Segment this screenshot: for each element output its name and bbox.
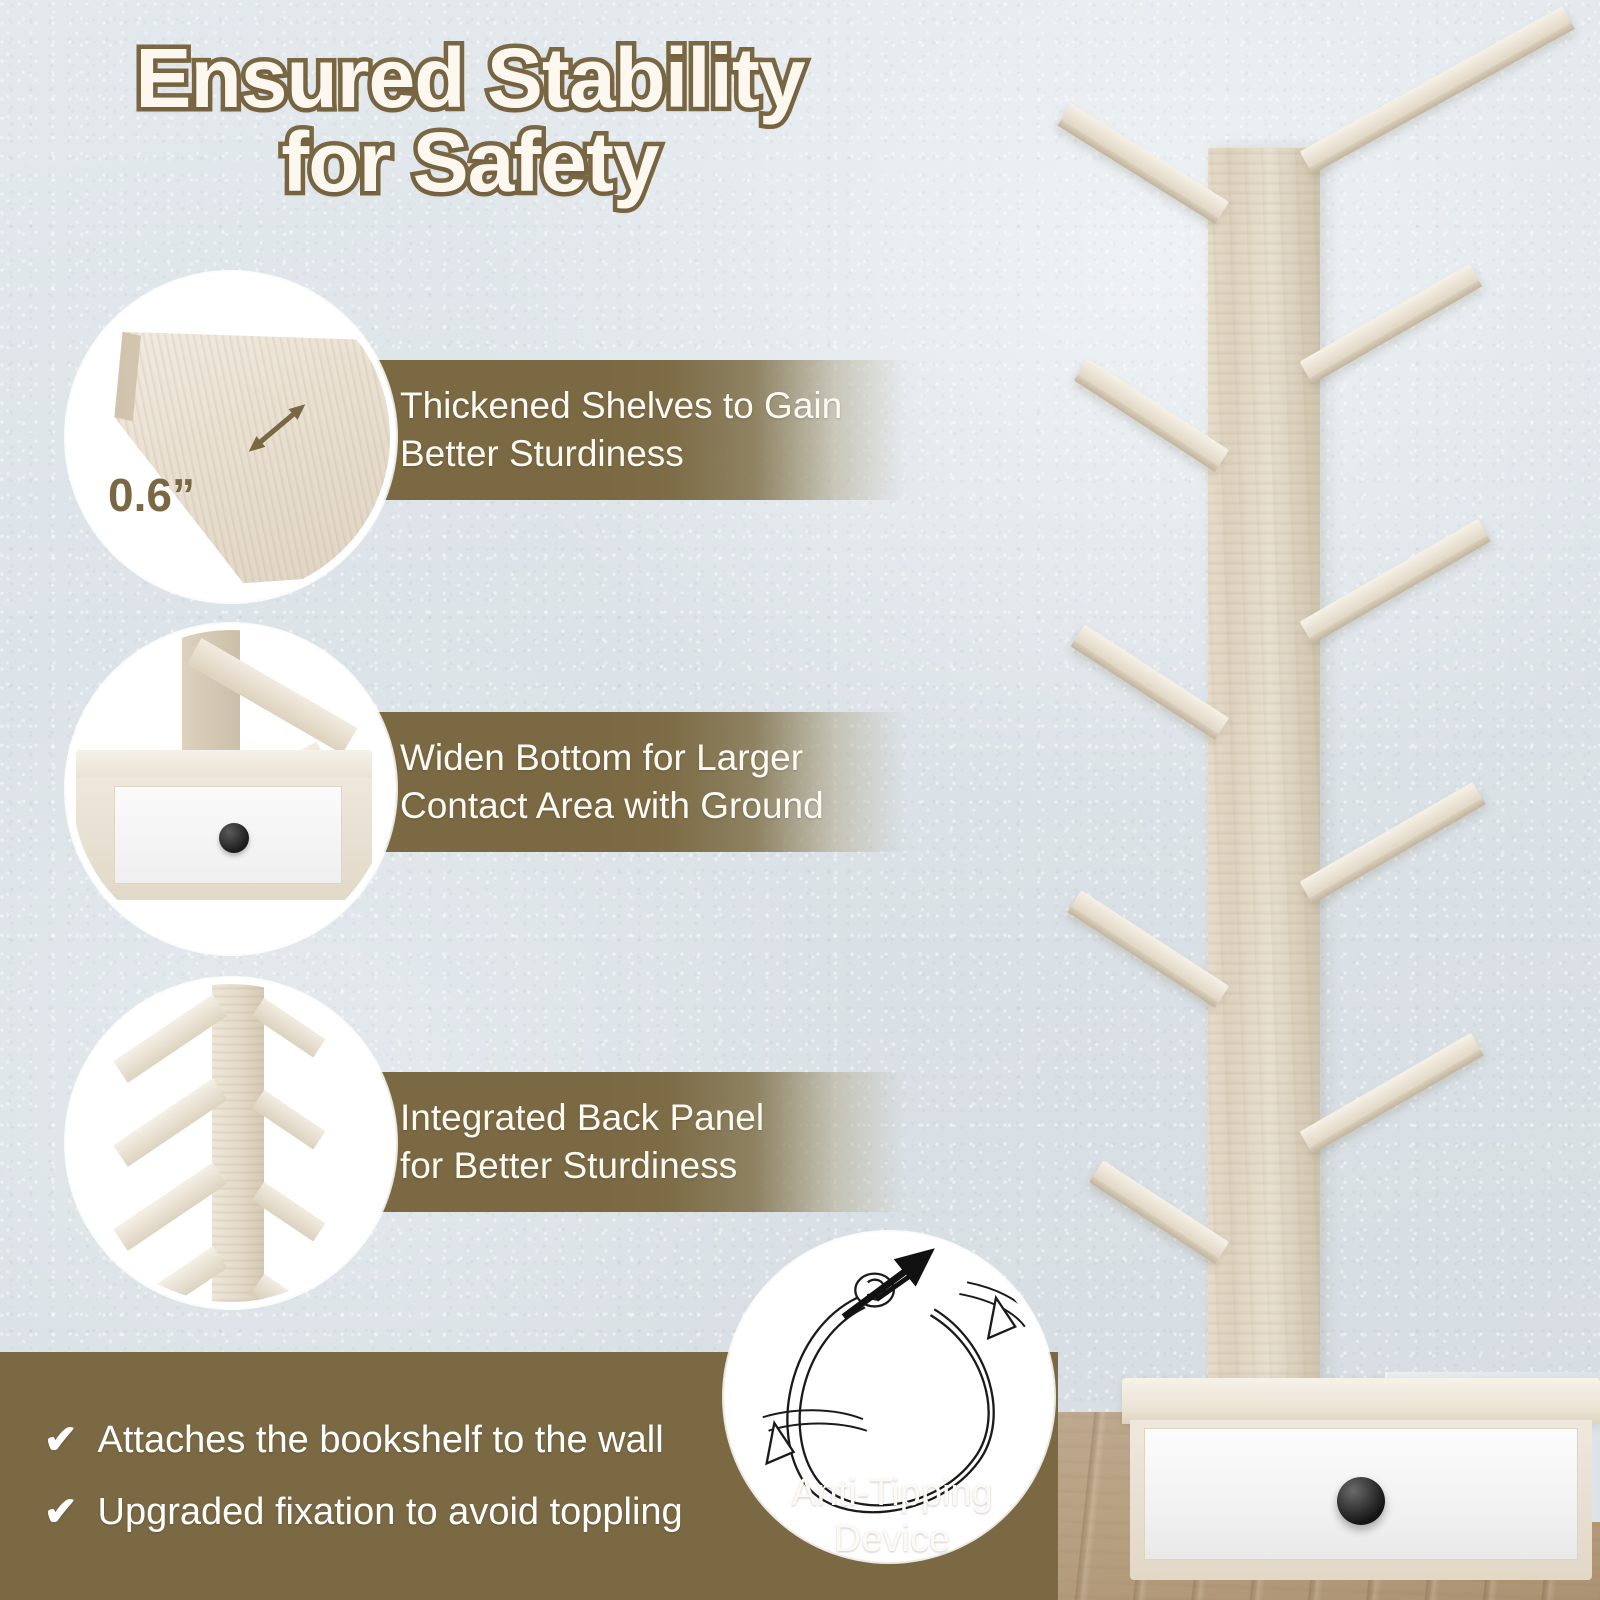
branch-shelf-right bbox=[1300, 519, 1491, 645]
back-panel-branch-left bbox=[113, 1078, 227, 1167]
back-panel-branch-left bbox=[113, 1162, 227, 1251]
drawer-knob-icon bbox=[1337, 1477, 1385, 1525]
anti-tipping-caption: Anti-Tipping Device bbox=[742, 1470, 1042, 1563]
feature-photo-thickened-shelves: 0.6” bbox=[66, 272, 396, 602]
branch-shelf-left bbox=[1074, 359, 1229, 472]
feature-photo-widen-bottom bbox=[66, 624, 396, 954]
shelf-board-illustration bbox=[80, 305, 396, 590]
page-title: Ensured Stability for Safety bbox=[60, 36, 880, 204]
branch-shelf-right bbox=[1300, 6, 1575, 174]
base-drawer-box bbox=[76, 778, 372, 900]
bookshelf-back-panel bbox=[1208, 148, 1320, 1400]
branch-shelf-right bbox=[1300, 264, 1483, 385]
branch-shelf-left bbox=[1071, 624, 1229, 739]
bookshelf-base-body bbox=[1130, 1420, 1592, 1580]
product-bookshelf-image bbox=[1060, 0, 1600, 1600]
bookshelf-drawer-front bbox=[1144, 1428, 1578, 1560]
check-icon: ✔ bbox=[44, 1420, 78, 1460]
bookshelf-base-top bbox=[1122, 1378, 1600, 1424]
page-title-line1: Ensured Stability bbox=[135, 31, 804, 125]
branch-shelf-left bbox=[1057, 103, 1229, 224]
safety-bullet-text: Attaches the bookshelf to the wall bbox=[98, 1421, 664, 1459]
page-title-line2: for Safety bbox=[60, 120, 880, 204]
infographic-stage: Ensured Stability for Safety Thickened S… bbox=[0, 0, 1600, 1600]
base-drawer-front bbox=[114, 786, 342, 884]
safety-bullet-text: Upgraded fixation to avoid toppling bbox=[98, 1493, 683, 1531]
feature-photo-integrated-back-panel bbox=[66, 978, 396, 1308]
branch-shelf-right bbox=[1300, 782, 1486, 905]
thickness-measurement-label: 0.6” bbox=[108, 468, 195, 522]
drawer-knob-icon bbox=[219, 823, 249, 853]
branch-shelf-left bbox=[1067, 890, 1229, 1008]
check-icon: ✔ bbox=[44, 1492, 78, 1532]
branch-shelf-right bbox=[1300, 1033, 1484, 1155]
